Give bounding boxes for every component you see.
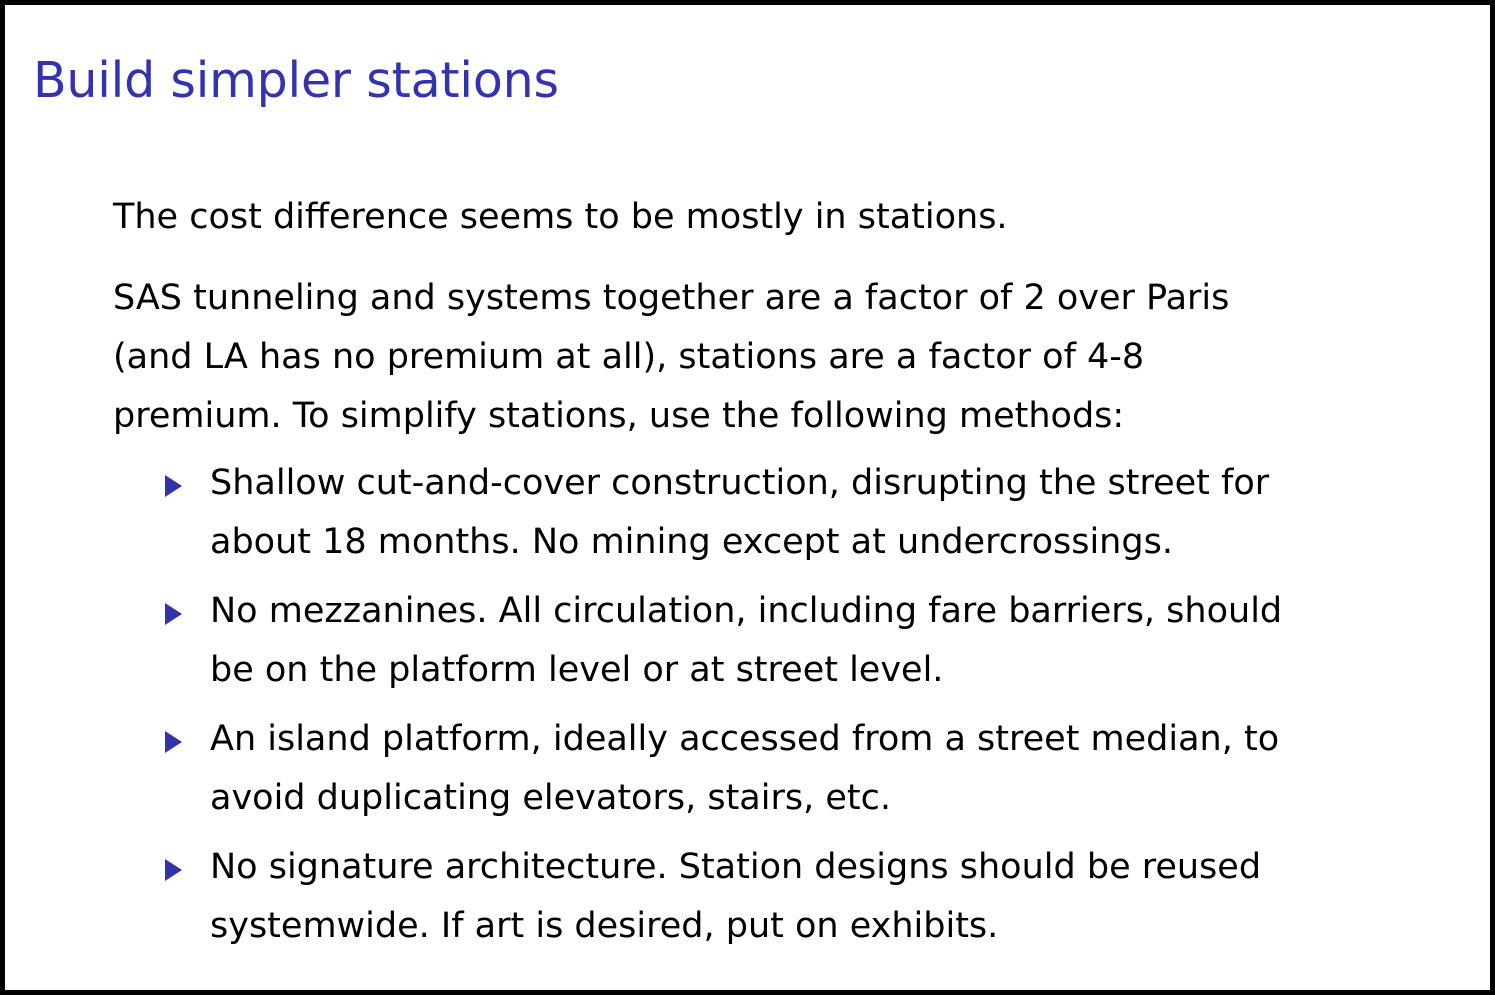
paragraph-cost-difference: The cost difference seems to be mostly i…	[113, 188, 1375, 247]
page-title: Build simpler stations	[33, 54, 559, 109]
triangle-right-icon	[165, 859, 182, 881]
paragraph-line: SAS tunneling and systems together are a…	[113, 269, 1375, 328]
triangle-right-icon	[165, 731, 182, 753]
list-item: No signature architecture. Station desig…	[113, 838, 1430, 956]
list-item-text: No signature architecture. Station desig…	[210, 838, 1430, 956]
list-item-text: An island platform, ideally accessed fro…	[210, 710, 1430, 828]
list-item-line: be on the platform level or at street le…	[210, 641, 1430, 700]
list-item: An island platform, ideally accessed fro…	[113, 710, 1430, 828]
paragraph-line: (and LA has no premium at all), stations…	[113, 328, 1375, 387]
list-item: Shallow cut-and-cover construction, disr…	[113, 454, 1430, 572]
list-item-line: about 18 months. No mining except at und…	[210, 513, 1430, 572]
triangle-right-icon	[165, 603, 182, 625]
paragraph-sas-tunneling: SAS tunneling and systems together are a…	[113, 269, 1375, 446]
list-item-line: avoid duplicating elevators, stairs, etc…	[210, 769, 1430, 828]
list-item-text: Shallow cut-and-cover construction, disr…	[210, 454, 1430, 572]
list-item-line: Shallow cut-and-cover construction, disr…	[210, 454, 1430, 513]
list-item: No mezzanines. All circulation, includin…	[113, 582, 1430, 700]
paragraph-line: premium. To simplify stations, use the f…	[113, 387, 1375, 446]
list-item-line: No mezzanines. All circulation, includin…	[210, 582, 1430, 641]
paragraph-line: The cost difference seems to be mostly i…	[113, 188, 1375, 247]
list-item-line: No signature architecture. Station desig…	[210, 838, 1430, 897]
methods-bullet-list: Shallow cut-and-cover construction, disr…	[113, 454, 1430, 956]
triangle-right-icon	[165, 475, 182, 497]
list-item-line: An island platform, ideally accessed fro…	[210, 710, 1430, 769]
presentation-slide: Build simpler stations The cost differen…	[0, 0, 1495, 995]
list-item-line: systemwide. If art is desired, put on ex…	[210, 897, 1430, 956]
slide-body: The cost difference seems to be mostly i…	[113, 188, 1430, 956]
list-item-text: No mezzanines. All circulation, includin…	[210, 582, 1430, 700]
